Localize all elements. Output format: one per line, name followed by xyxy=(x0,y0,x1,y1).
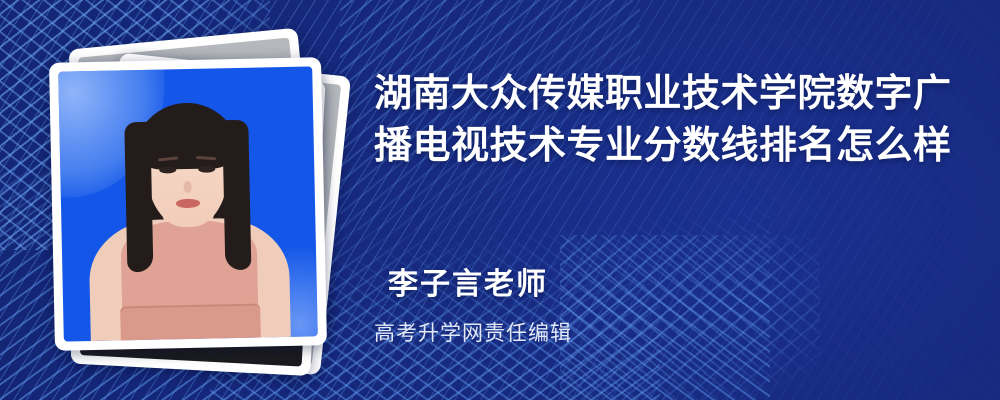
author-name: 李子言老师 xyxy=(388,266,548,304)
banner-text-column: 湖南大众传媒职业技术学院数字广播电视技术专业分数线排名怎么样 李子言老师 高考升… xyxy=(374,0,974,400)
portrait-nose xyxy=(184,181,192,193)
author-photo xyxy=(58,66,318,341)
author-role: 高考升学网责任编辑 xyxy=(374,320,572,348)
article-header-banner: 湖南大众传媒职业技术学院数字广播电视技术专业分数线排名怎么样 李子言老师 高考升… xyxy=(0,0,1000,400)
portrait-hair-left xyxy=(124,122,153,273)
portrait-dress-waist xyxy=(120,304,261,341)
author-photo-card xyxy=(49,57,327,351)
article-headline: 湖南大众传媒职业技术学院数字广播电视技术专业分数线排名怎么样 xyxy=(374,68,954,172)
portrait-illustration xyxy=(58,66,318,341)
portrait-hair-right xyxy=(222,120,251,271)
photo-card-stack xyxy=(52,38,352,358)
